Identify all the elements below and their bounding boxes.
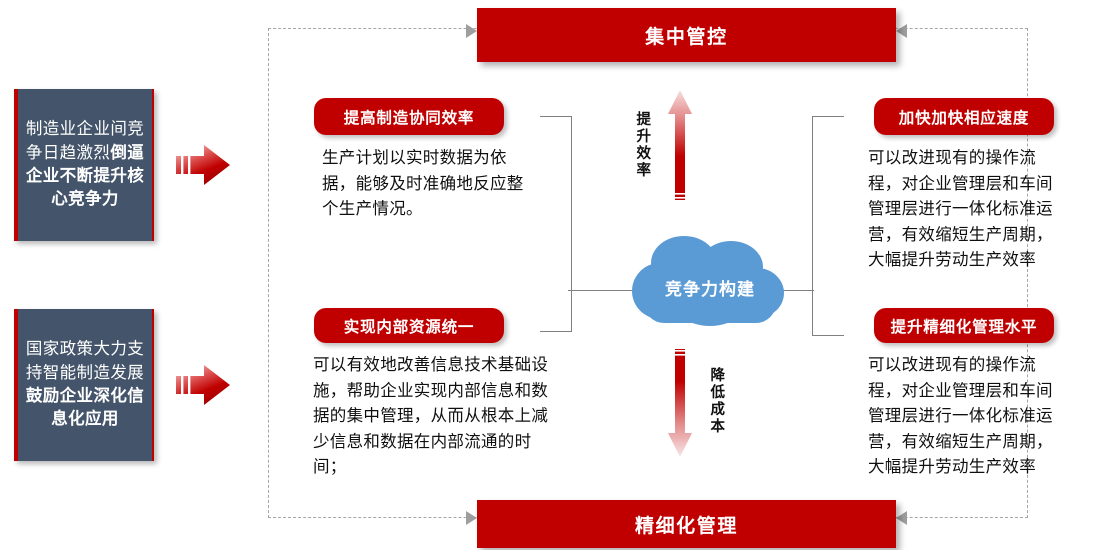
pill-accelerate-response-speed: 加快加快相应速度 [874,98,1054,135]
banner-refined-management: 精细化管理 [477,500,896,548]
frame-arrowhead-top-left [466,24,477,38]
driver-box-competition: 制造业企业间竞争日趋激烈倒逼企业不断提升核心竞争力 [14,89,154,241]
driver-1-bold-2: 业不断提升 [43,167,128,185]
cloud-label: 竞争力构建 [630,275,790,300]
up-arrow-icon [667,88,693,206]
banner-centralized-control: 集中管控 [477,8,896,62]
body-bottom-left: 可以有效地改善信息技术基础设施，帮助企业实现内部信息和数据的集中管理，从而从根本… [313,353,561,481]
body-top-left: 生产计划以实时数据为依据，能够及时准确地反应整个生产情况。 [322,146,538,223]
driver-2-bold-1: 鼓 [26,387,43,405]
body-bottom-right: 可以改进现有的操作流程，对企业管理层和车间管理层进行一体化标准运营，有效缩短生产… [868,353,1060,481]
body-top-right: 可以改进现有的操作流程，对企业管理层和车间管理层进行一体化标准运营，有效缩短生产… [868,146,1060,274]
diagram-canvas: 制造业企业间竞争日趋激烈倒逼企业不断提升核心竞争力 国家政策大力支持智能制造发展… [0,0,1108,550]
driver-2-line-1: 国家政策大 [26,340,111,358]
pill-raise-refined-management-level: 提升精细化管理水平 [874,308,1054,343]
driver-2-line-3: 制造发展 [77,364,145,382]
driver-1-line-3: 激烈 [77,144,111,162]
driver-2-bold-2: 励企业深化 [43,387,128,405]
pill-top-right-label: 加快加快相应速度 [899,106,1029,128]
driver-box-policy: 国家政策大力支持智能制造发展鼓励企业深化信息化应用 [14,309,154,461]
frame-arrowhead-bottom-left [466,511,477,525]
bracket-connector-left [540,116,572,332]
arrow-up-label: 提升效率 [634,112,654,180]
pill-top-left-label: 提高制造协同效率 [344,106,474,128]
fat-right-arrow-icon [176,143,232,187]
pill-bottom-right-label: 提升精细化管理水平 [891,315,1038,337]
pill-unify-internal-resources: 实现内部资源统一 [314,308,504,343]
driver-box-competition-text: 制造业企业间竞争日趋激烈倒逼企业不断提升核心竞争力 [24,118,146,212]
frame-arrowhead-top-right [896,24,907,38]
down-arrow-icon [667,347,693,459]
bracket-connector-right [812,116,844,336]
driver-1-line-1: 制造业企业 [26,120,111,138]
frame-arrowhead-bottom-right [896,511,907,525]
banner-bottom-label: 精细化管理 [635,511,738,538]
pill-bottom-left-label: 实现内部资源统一 [344,315,474,337]
fat-right-arrow-icon [176,363,232,407]
pill-improve-collaboration-efficiency: 提高制造协同效率 [314,98,504,135]
arrow-down-label: 降低成本 [708,368,728,436]
driver-box-policy-text: 国家政策大力支持智能制造发展鼓励企业深化信息化应用 [24,338,146,432]
banner-top-label: 集中管控 [645,22,727,49]
